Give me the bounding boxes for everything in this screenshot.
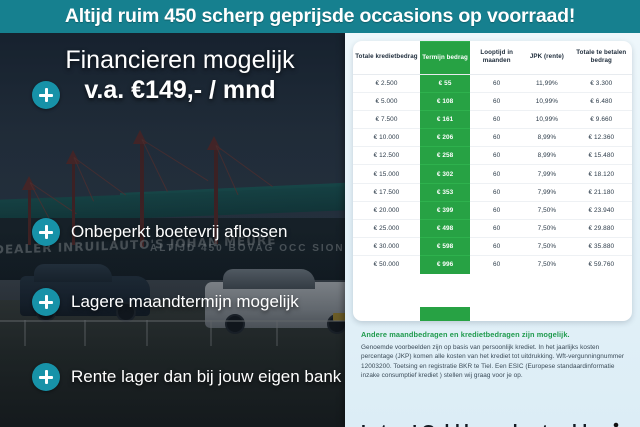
bullet-item-rente: Rente lager dan bij jouw eigen bank	[32, 363, 341, 391]
cell-krediet: € 30.000	[353, 238, 420, 256]
cell-termijn: € 206	[420, 129, 470, 147]
cell-termijn: € 353	[420, 183, 470, 201]
cell-termijn: € 498	[420, 220, 470, 238]
cell-krediet: € 25.000	[353, 220, 420, 238]
cell-jkp: 10,99%	[523, 110, 570, 128]
bullet-label: Lagere maandtermijn mogelijk	[71, 292, 299, 312]
table-row: € 7.500€ 1616010,99%€ 9.660	[353, 110, 632, 128]
table-row: € 17.500€ 353607,99%€ 21.180	[353, 183, 632, 201]
cell-termijn: € 996	[420, 256, 470, 274]
cell-krediet: € 5.000	[353, 92, 420, 110]
cell-termijn: € 258	[420, 147, 470, 165]
cell-krediet: € 7.500	[353, 110, 420, 128]
table-row: € 5.000€ 1086010,99%€ 6.480	[353, 92, 632, 110]
cell-looptijd: 60	[470, 165, 523, 183]
cell-totaal: € 29.880	[571, 220, 632, 238]
cell-krediet: € 20.000	[353, 201, 420, 219]
page-title: Financieren mogelijk v.a. €149,- / mnd	[22, 45, 338, 106]
cell-looptijd: 60	[470, 220, 523, 238]
walking-man-logo-icon	[593, 422, 623, 427]
bullet-item-aflossen: Onbeperkt boetevrij aflossen	[32, 218, 287, 246]
banner-text: Altijd ruim 450 scherp geprijsde occasio…	[65, 5, 575, 28]
table-row: € 25.000€ 498607,50%€ 29.880	[353, 220, 632, 238]
col-header-krediet: Totale kredietbedrag	[353, 42, 420, 75]
cell-termijn: € 399	[420, 201, 470, 219]
cell-totaal: € 12.360	[571, 129, 632, 147]
cell-jkp: 8,99%	[523, 129, 570, 147]
cell-termijn: € 161	[420, 110, 470, 128]
highlight-column-footer	[420, 307, 470, 321]
top-banner: Altijd ruim 450 scherp geprijsde occasio…	[0, 0, 640, 33]
table-row: € 10.000€ 206608,99%€ 12.360	[353, 129, 632, 147]
cell-jkp: 7,50%	[523, 256, 570, 274]
col-header-termijn: Termijn bedrag	[420, 42, 470, 75]
cell-looptijd: 60	[470, 147, 523, 165]
cell-krediet: € 10.000	[353, 129, 420, 147]
bullet-label: Rente lager dan bij jouw eigen bank	[71, 367, 341, 387]
cell-termijn: € 108	[420, 92, 470, 110]
headline-line-2: v.a. €149,- / mnd	[22, 75, 338, 106]
rate-table-body: € 2.500€ 556011,99%€ 3.300€ 5.000€ 10860…	[353, 74, 632, 274]
bullet-label: Onbeperkt boetevrij aflossen	[71, 222, 287, 242]
cell-looptijd: 60	[470, 74, 523, 92]
disclaimer-title: Andere maandbedragen en kredietbedragen …	[361, 330, 627, 339]
headline-line-1: Financieren mogelijk	[22, 45, 338, 75]
cell-jkp: 10,99%	[523, 92, 570, 110]
cell-totaal: € 23.940	[571, 201, 632, 219]
cell-jkp: 7,50%	[523, 238, 570, 256]
cell-jkp: 7,99%	[523, 183, 570, 201]
cell-looptijd: 60	[470, 201, 523, 219]
table-header-row: Totale kredietbedrag Termijn bedrag Loop…	[353, 42, 632, 75]
table-row: € 50.000€ 996607,50%€ 59.760	[353, 256, 632, 274]
cell-krediet: € 17.500	[353, 183, 420, 201]
cell-totaal: € 6.480	[571, 92, 632, 110]
col-header-jkp: JPK (rente)	[523, 42, 570, 75]
cell-looptijd: 60	[470, 110, 523, 128]
plus-icon	[32, 218, 60, 246]
cell-looptijd: 60	[470, 238, 523, 256]
cell-krediet: € 15.000	[353, 165, 420, 183]
col-header-totaal: Totale te betalen bedrag	[571, 42, 632, 75]
table-row: € 20.000€ 399607,50%€ 23.940	[353, 201, 632, 219]
cell-looptijd: 60	[470, 129, 523, 147]
rate-table-card: Totale kredietbedrag Termijn bedrag Loop…	[353, 41, 632, 321]
disclaimer-body: Genoemde voorbeelden zijn op basis van p…	[361, 343, 629, 380]
plus-icon	[32, 288, 60, 316]
cell-jkp: 7,50%	[523, 201, 570, 219]
cell-krediet: € 2.500	[353, 74, 420, 92]
cell-totaal: € 35.880	[571, 238, 632, 256]
cell-looptijd: 60	[470, 256, 523, 274]
cell-termijn: € 55	[420, 74, 470, 92]
cell-totaal: € 15.480	[571, 147, 632, 165]
cell-totaal: € 18.120	[571, 165, 632, 183]
cell-termijn: € 302	[420, 165, 470, 183]
ad-banner: DEALER INRUILAUTO'S JOHAN MEURE ALTIJD 4…	[0, 0, 640, 427]
walking-man-icon	[607, 422, 623, 427]
warning-text: Let op! Geld lenen kost geld	[361, 421, 587, 427]
cell-totaal: € 59.760	[571, 256, 632, 274]
cell-jkp: 7,99%	[523, 165, 570, 183]
cell-krediet: € 12.500	[353, 147, 420, 165]
cell-krediet: € 50.000	[353, 256, 420, 274]
cell-jkp: 8,99%	[523, 147, 570, 165]
table-row: € 15.000€ 302607,99%€ 18.120	[353, 165, 632, 183]
rate-table: Totale kredietbedrag Termijn bedrag Loop…	[353, 41, 632, 274]
left-content: Financieren mogelijk v.a. €149,- / mnd O…	[0, 33, 345, 427]
cell-looptijd: 60	[470, 92, 523, 110]
cell-totaal: € 9.660	[571, 110, 632, 128]
cell-totaal: € 3.300	[571, 74, 632, 92]
cell-jkp: 7,50%	[523, 220, 570, 238]
cell-looptijd: 60	[470, 183, 523, 201]
plus-icon	[32, 363, 60, 391]
cell-jkp: 11,99%	[523, 74, 570, 92]
table-row: € 2.500€ 556011,99%€ 3.300	[353, 74, 632, 92]
cell-termijn: € 598	[420, 238, 470, 256]
bullet-item-maandtermijn: Lagere maandtermijn mogelijk	[32, 288, 299, 316]
warning-block: Let op! Geld lenen kost geld	[361, 421, 623, 427]
col-header-looptijd: Looptijd in maanden	[470, 42, 523, 75]
rate-panel: Totale kredietbedrag Termijn bedrag Loop…	[345, 33, 640, 427]
table-row: € 12.500€ 258608,99%€ 15.480	[353, 147, 632, 165]
table-row: € 30.000€ 598607,50%€ 35.880	[353, 238, 632, 256]
cell-totaal: € 21.180	[571, 183, 632, 201]
